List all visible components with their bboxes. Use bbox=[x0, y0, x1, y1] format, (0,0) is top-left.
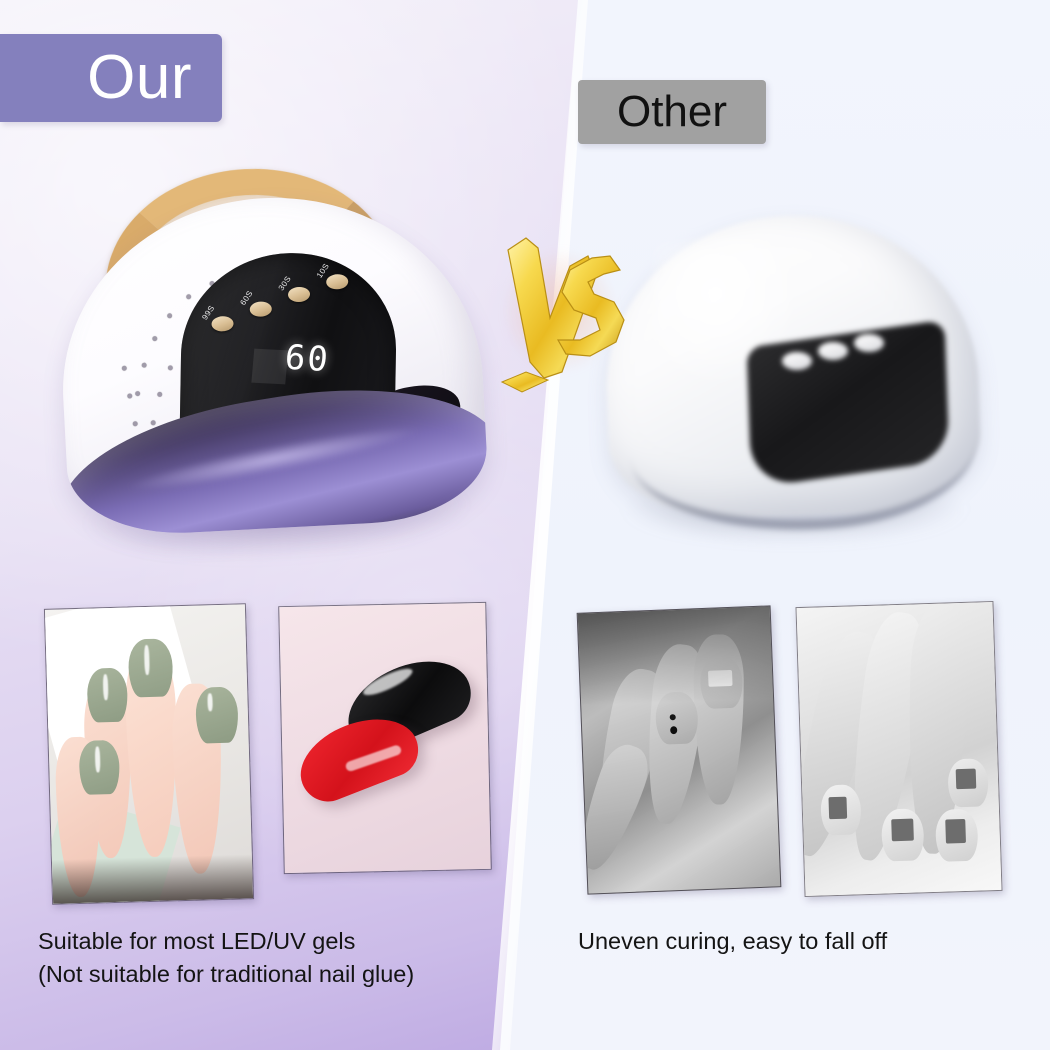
green-manicure-photo-content bbox=[45, 604, 253, 903]
vent-dot bbox=[152, 336, 157, 341]
peeling-nails-photo bbox=[795, 601, 1002, 897]
other-label-tag: Other bbox=[578, 80, 766, 144]
bw1-top-shade bbox=[578, 606, 773, 705]
vent-dot bbox=[168, 365, 173, 370]
comparison-infographic: Our Other 99S 60S 30S 10S bbox=[0, 0, 1050, 1050]
other-lamp-button-3[interactable] bbox=[854, 334, 884, 352]
bw2-chip-4 bbox=[956, 769, 977, 790]
other-label-text: Other bbox=[617, 90, 727, 134]
nail-tips-photo bbox=[278, 602, 492, 874]
vent-dot bbox=[151, 420, 156, 425]
other-lamp-button-2[interactable] bbox=[818, 342, 848, 360]
vent-dot bbox=[122, 366, 127, 371]
bw2-chip-2 bbox=[891, 819, 914, 842]
nail-tips-photo-content bbox=[279, 603, 491, 873]
vent-dot bbox=[167, 313, 172, 318]
timer-button-10s[interactable] bbox=[326, 274, 348, 289]
left-caption-line-1: Suitable for most LED/UV gels bbox=[38, 925, 414, 958]
vent-dot bbox=[157, 392, 162, 397]
other-lamp-button-1[interactable] bbox=[782, 352, 812, 370]
right-caption: Uneven curing, easy to fall off bbox=[578, 925, 887, 958]
peeling-nails-photo-content bbox=[797, 602, 1002, 896]
display-dim-digit bbox=[251, 349, 288, 385]
right-caption-line-1: Uneven curing, easy to fall off bbox=[578, 925, 887, 958]
our-label-text: Our bbox=[87, 47, 192, 109]
vent-dot bbox=[142, 363, 147, 368]
nail-green-2 bbox=[128, 638, 174, 697]
vent-dot bbox=[135, 391, 140, 396]
timer-button-row: 99S 60S 30S 10S bbox=[205, 265, 386, 338]
other-nail-lamp-image bbox=[596, 206, 996, 566]
vs-badge bbox=[492, 222, 632, 402]
uneven-cure-photo-content bbox=[578, 606, 781, 893]
left-caption: Suitable for most LED/UV gels (Not suita… bbox=[38, 925, 414, 992]
lamp-timer-display: 60 bbox=[283, 338, 331, 380]
timer-button-30s[interactable] bbox=[288, 287, 310, 302]
our-label-tag: Our bbox=[0, 34, 222, 122]
vent-dot bbox=[127, 393, 132, 398]
green-manicure-photo bbox=[44, 603, 254, 905]
bw2-chip-1 bbox=[828, 797, 847, 820]
nail-gloss-3 bbox=[207, 693, 213, 711]
nail-green-3 bbox=[195, 687, 239, 744]
photo-bottom-shade bbox=[52, 854, 253, 904]
timer-button-60s[interactable] bbox=[250, 301, 272, 316]
left-caption-line-2: (Not suitable for traditional nail glue) bbox=[38, 958, 414, 991]
our-nail-lamp-image: 99S 60S 30S 10S 60 L.K.E® S2PRO Nail Lam… bbox=[42, 157, 502, 579]
uneven-cure-photo bbox=[577, 605, 782, 894]
timer-button-99s[interactable] bbox=[211, 316, 233, 331]
bw1-finger-4 bbox=[577, 739, 656, 877]
bw2-chip-3 bbox=[945, 819, 966, 844]
vent-dot bbox=[133, 421, 138, 426]
